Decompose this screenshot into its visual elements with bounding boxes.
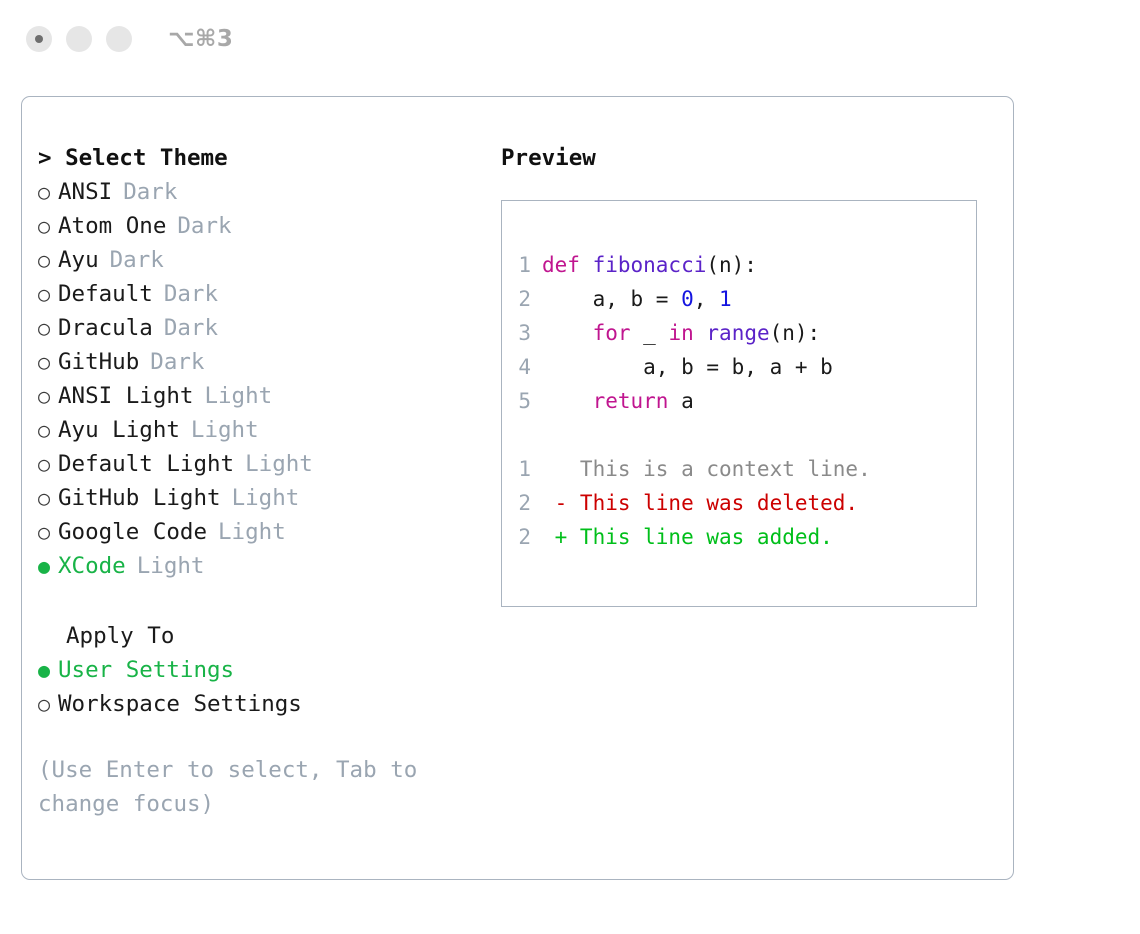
diff-line-text: This is a context line. xyxy=(542,452,871,486)
code-token-kw: in xyxy=(668,321,693,345)
theme-option-google-code[interactable]: ○Google CodeLight xyxy=(38,515,478,549)
code-token-plain xyxy=(694,321,707,345)
theme-option-label: Atom One xyxy=(58,209,166,243)
theme-option-tag: Dark xyxy=(150,345,204,379)
radio-unselected-icon: ○ xyxy=(38,175,58,209)
radio-selected-icon: ● xyxy=(38,653,58,687)
diff-line-del: 2 - This line was deleted. xyxy=(502,486,976,520)
preview-heading: Preview xyxy=(501,141,981,175)
theme-option-dracula[interactable]: ○DraculaDark xyxy=(38,311,478,345)
theme-option-xcode[interactable]: ●XCodeLight xyxy=(38,549,478,583)
theme-option-tag: Dark xyxy=(164,277,218,311)
theme-option-default-light[interactable]: ○Default LightLight xyxy=(38,447,478,481)
window-controls xyxy=(26,26,132,52)
theme-picker-column: > Select Theme ○ANSIDark○Atom OneDark○Ay… xyxy=(38,141,478,821)
window-dot-third-icon[interactable] xyxy=(106,26,132,52)
apply-to-option-label: User Settings xyxy=(58,653,234,687)
apply-to-option-label: Workspace Settings xyxy=(58,687,302,721)
code-line-text: return a xyxy=(542,384,694,418)
code-token-num: 0 xyxy=(681,287,694,311)
code-token-num: 1 xyxy=(719,287,732,311)
code-token-plain: , xyxy=(694,287,719,311)
code-token-kw: for xyxy=(593,321,631,345)
radio-unselected-icon: ○ xyxy=(38,311,58,345)
theme-option-label: ANSI Light xyxy=(58,379,193,413)
theme-option-tag: Dark xyxy=(110,243,164,277)
theme-option-tag: Light xyxy=(137,549,205,583)
theme-option-github-light[interactable]: ○GitHub LightLight xyxy=(38,481,478,515)
diff-line-number: 2 xyxy=(502,520,542,554)
theme-option-label: Dracula xyxy=(58,311,153,345)
theme-option-label: Ayu Light xyxy=(58,413,180,447)
code-token-plain: a, b = b, a + b xyxy=(542,355,833,379)
diff-line-add: 2 + This line was added. xyxy=(502,520,976,554)
code-line: 5 return a xyxy=(502,384,976,418)
diff-line-text: + This line was added. xyxy=(542,520,833,554)
radio-unselected-icon: ○ xyxy=(38,243,58,277)
theme-option-label: Default Light xyxy=(58,447,234,481)
diff-sample: 1 This is a context line.2 - This line w… xyxy=(502,452,976,554)
theme-option-atom-one[interactable]: ○Atom OneDark xyxy=(38,209,478,243)
radio-unselected-icon: ○ xyxy=(38,277,58,311)
radio-unselected-icon: ○ xyxy=(38,209,58,243)
diff-line-number: 1 xyxy=(502,452,542,486)
theme-option-tag: Light xyxy=(232,481,300,515)
keyboard-shortcut-label: ⌥⌘3 xyxy=(168,26,233,52)
diff-line-text: - This line was deleted. xyxy=(542,486,858,520)
radio-unselected-icon: ○ xyxy=(38,345,58,379)
code-line-number: 4 xyxy=(502,350,542,384)
theme-option-label: XCode xyxy=(58,549,126,583)
code-token-plain xyxy=(542,321,593,345)
apply-to-list: ●User Settings○Workspace Settings xyxy=(38,653,478,721)
theme-option-tag: Light xyxy=(191,413,259,447)
code-token-kw: return xyxy=(593,389,669,413)
theme-option-ansi-light[interactable]: ○ANSI LightLight xyxy=(38,379,478,413)
code-line-text: for _ in range(n): xyxy=(542,316,820,350)
theme-option-label: GitHub xyxy=(58,345,139,379)
main-panel: > Select Theme ○ANSIDark○Atom OneDark○Ay… xyxy=(21,96,1014,880)
theme-option-label: ANSI xyxy=(58,175,112,209)
code-line: 4 a, b = b, a + b xyxy=(502,350,976,384)
theme-option-label: Ayu xyxy=(58,243,99,277)
code-line: 3 for _ in range(n): xyxy=(502,316,976,350)
theme-option-label: Google Code xyxy=(58,515,207,549)
window-dot-second-icon[interactable] xyxy=(66,26,92,52)
code-token-kw: def xyxy=(542,253,593,277)
code-diff-gap xyxy=(502,418,976,452)
code-line-number: 2 xyxy=(502,282,542,316)
code-token-plain xyxy=(542,389,593,413)
code-line-text: a, b = b, a + b xyxy=(542,350,833,384)
theme-list: ○ANSIDark○Atom OneDark○AyuDark○DefaultDa… xyxy=(38,175,478,583)
select-theme-heading: > Select Theme xyxy=(38,141,478,175)
radio-unselected-icon: ○ xyxy=(38,447,58,481)
code-line: 1def fibonacci(n): xyxy=(502,248,976,282)
section-spacer xyxy=(38,583,478,619)
theme-option-tag: Light xyxy=(218,515,286,549)
code-line-text: a, b = 0, 1 xyxy=(542,282,732,316)
apply-to-option-workspace-settings[interactable]: ○Workspace Settings xyxy=(38,687,478,721)
code-line: 2 a, b = 0, 1 xyxy=(502,282,976,316)
radio-selected-icon: ● xyxy=(38,549,58,583)
theme-option-default[interactable]: ○DefaultDark xyxy=(38,277,478,311)
theme-option-ansi[interactable]: ○ANSIDark xyxy=(38,175,478,209)
preview-column: Preview 1def fibonacci(n):2 a, b = 0, 13… xyxy=(501,141,981,607)
apply-to-option-user-settings[interactable]: ●User Settings xyxy=(38,653,478,687)
code-token-plain: _ xyxy=(631,321,669,345)
code-line-text: def fibonacci(n): xyxy=(542,248,757,282)
radio-unselected-icon: ○ xyxy=(38,687,58,721)
code-token-plain: (n): xyxy=(770,321,821,345)
code-token-plain: (n): xyxy=(706,253,757,277)
apply-to-heading: Apply To xyxy=(38,619,478,653)
window-dot-active-icon[interactable] xyxy=(26,26,52,52)
code-line-number: 3 xyxy=(502,316,542,350)
app-window: ⌥⌘3 > Select Theme ○ANSIDark○Atom OneDar… xyxy=(0,0,1140,934)
preview-box: 1def fibonacci(n):2 a, b = 0, 13 for _ i… xyxy=(501,200,977,607)
radio-unselected-icon: ○ xyxy=(38,379,58,413)
code-token-fn: range xyxy=(706,321,769,345)
theme-option-label: GitHub Light xyxy=(58,481,221,515)
code-line-number: 5 xyxy=(502,384,542,418)
radio-unselected-icon: ○ xyxy=(38,413,58,447)
theme-option-tag: Light xyxy=(245,447,313,481)
theme-option-tag: Dark xyxy=(123,175,177,209)
diff-line-ctx: 1 This is a context line. xyxy=(502,452,976,486)
theme-option-github[interactable]: ○GitHubDark xyxy=(38,345,478,379)
code-token-plain: a xyxy=(668,389,693,413)
theme-option-tag: Light xyxy=(204,379,272,413)
radio-unselected-icon: ○ xyxy=(38,515,58,549)
diff-line-number: 2 xyxy=(502,486,542,520)
keyboard-hint-text: (Use Enter to select, Tab to change focu… xyxy=(38,753,438,821)
code-sample: 1def fibonacci(n):2 a, b = 0, 13 for _ i… xyxy=(502,248,976,418)
radio-unselected-icon: ○ xyxy=(38,481,58,515)
theme-option-tag: Dark xyxy=(164,311,218,345)
code-line-number: 1 xyxy=(502,248,542,282)
window-dot-active-center-icon xyxy=(35,35,43,43)
theme-option-label: Default xyxy=(58,277,153,311)
hint-spacer xyxy=(38,721,478,753)
code-token-fn: fibonacci xyxy=(593,253,707,277)
theme-option-ayu-light[interactable]: ○Ayu LightLight xyxy=(38,413,478,447)
code-token-plain: a, b = xyxy=(542,287,681,311)
title-bar: ⌥⌘3 xyxy=(0,0,1140,78)
theme-option-tag: Dark xyxy=(177,209,231,243)
theme-option-ayu[interactable]: ○AyuDark xyxy=(38,243,478,277)
